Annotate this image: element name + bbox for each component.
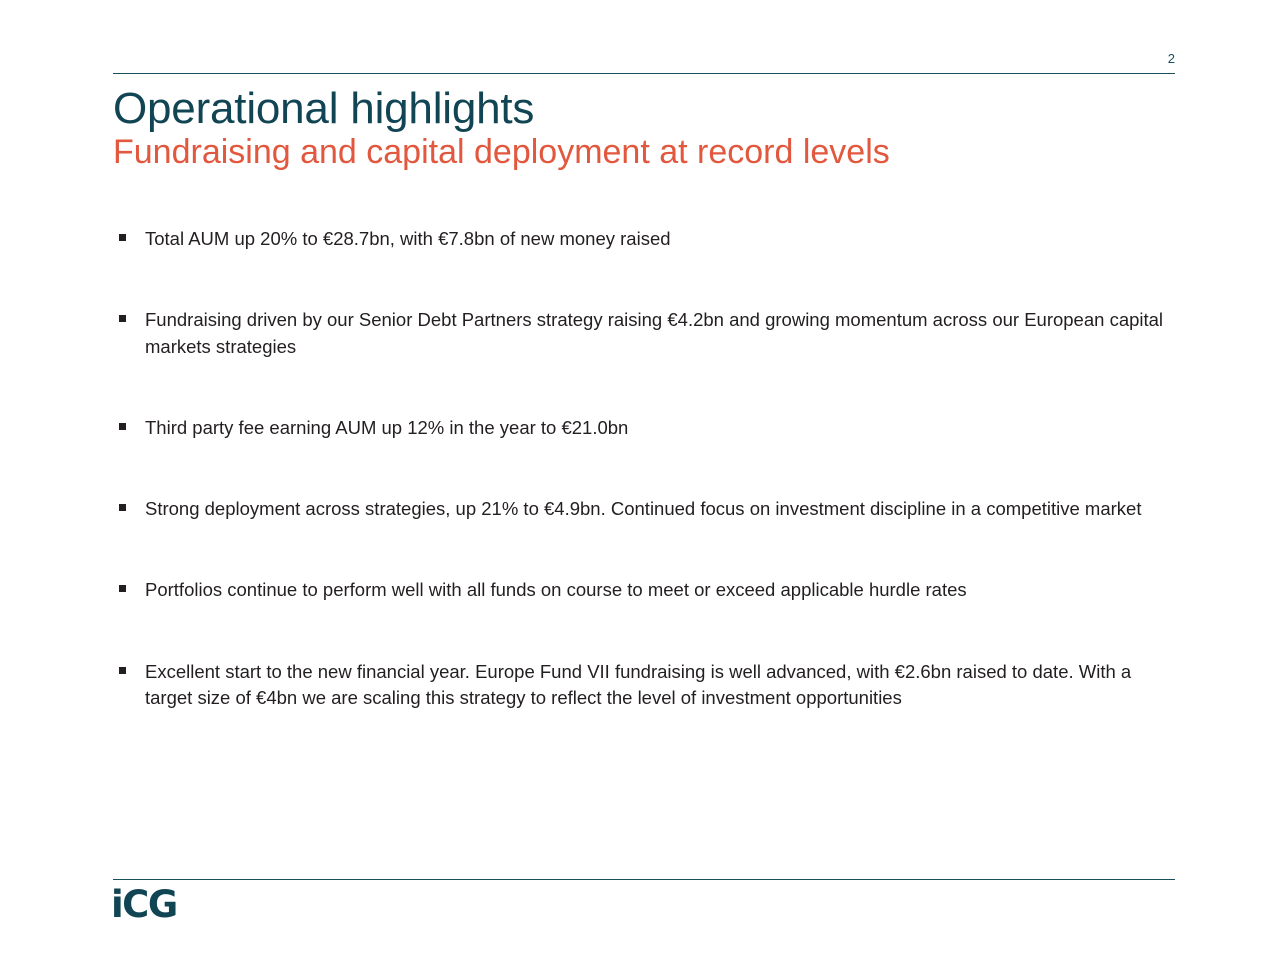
bullet-marker-icon xyxy=(119,585,126,592)
list-item: Fundraising driven by our Senior Debt Pa… xyxy=(113,307,1178,360)
list-item-text: Excellent start to the new financial yea… xyxy=(145,659,1178,712)
list-item: Total AUM up 20% to €28.7bn, with €7.8bn… xyxy=(113,226,1178,252)
list-item-text: Total AUM up 20% to €28.7bn, with €7.8bn… xyxy=(145,226,1178,252)
list-item: Portfolios continue to perform well with… xyxy=(113,577,1178,603)
bullet-marker-icon xyxy=(119,423,126,430)
page-number: 2 xyxy=(1168,52,1175,65)
list-item-text: Strong deployment across strategies, up … xyxy=(145,496,1178,522)
bullet-marker-icon xyxy=(119,234,126,241)
bullet-marker-icon xyxy=(119,315,126,322)
list-item-text: Fundraising driven by our Senior Debt Pa… xyxy=(145,307,1178,360)
list-item: Third party fee earning AUM up 12% in th… xyxy=(113,415,1178,441)
list-item: Strong deployment across strategies, up … xyxy=(113,496,1178,522)
list-item: Excellent start to the new financial yea… xyxy=(113,659,1178,712)
slide: 2 Operational highlights Fundraising and… xyxy=(0,0,1280,960)
page-subtitle: Fundraising and capital deployment at re… xyxy=(113,133,890,171)
bullet-marker-icon xyxy=(119,504,126,511)
list-item-text: Third party fee earning AUM up 12% in th… xyxy=(145,415,1178,441)
footer-divider xyxy=(113,879,1175,880)
bullet-list: Total AUM up 20% to €28.7bn, with €7.8bn… xyxy=(113,226,1178,711)
bullet-marker-icon xyxy=(119,667,126,674)
icg-logo: iCG xyxy=(111,886,177,923)
page-title: Operational highlights xyxy=(113,84,534,133)
list-item-text: Portfolios continue to perform well with… xyxy=(145,577,1178,603)
header-divider xyxy=(113,73,1175,74)
